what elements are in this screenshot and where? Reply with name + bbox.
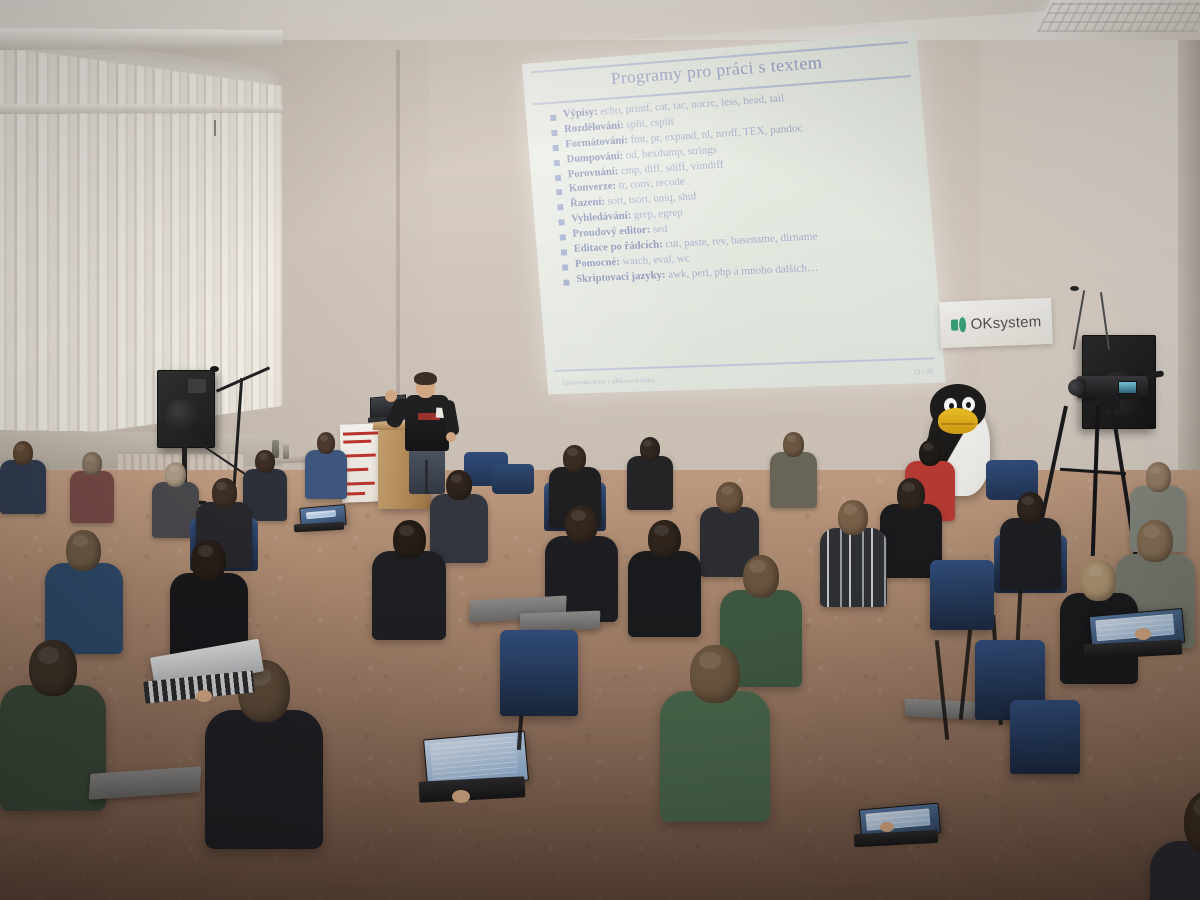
blinds-rail [0, 28, 282, 50]
blinds-rail-lower [0, 104, 282, 114]
chair-writing-tablet-2[interactable] [520, 611, 601, 632]
microphone-icon [210, 366, 219, 372]
hair-highlight [749, 560, 766, 573]
hand-1 [196, 690, 212, 702]
hand-2 [452, 790, 470, 803]
projected-slide: Programy pro práci s textem Výpisy: echo… [522, 32, 946, 394]
empty-chair-2[interactable] [492, 464, 534, 494]
presenter-hand-left [385, 390, 397, 402]
hand-3 [1135, 628, 1151, 640]
audience-laptop-content-2 [430, 736, 519, 779]
wall-corner-right [1178, 40, 1200, 510]
empty-audience-chair-4[interactable] [1010, 700, 1080, 774]
hair-highlight [654, 525, 669, 537]
water-bottle-2[interactable] [283, 444, 289, 459]
tux-pupil-right [966, 402, 971, 408]
audience-member-body [372, 551, 446, 639]
hair-highlight [38, 647, 59, 664]
hair-highlight [399, 525, 414, 537]
audience-member-body [770, 452, 817, 508]
projection-screen: Programy pro práci s textem Výpisy: echo… [522, 32, 946, 394]
hair-highlight [902, 482, 915, 492]
audience-member-body [1150, 841, 1200, 900]
oksystem-logo-icon [950, 317, 966, 333]
camera-lcd-screen [1118, 381, 1137, 394]
empty-audience-chair-3[interactable] [500, 630, 578, 716]
oksystem-sponsor-banner: OKsystem [939, 298, 1053, 348]
oksystem-banner-text: OKsystem [970, 313, 1041, 333]
pa-speaker-left [157, 370, 215, 448]
hair-highlight [571, 510, 586, 522]
audience-member-body [1000, 518, 1061, 590]
audience-member-body [70, 471, 114, 523]
hair-highlight [721, 486, 733, 495]
audience-member-body [205, 710, 323, 850]
hair-highlight [1143, 525, 1159, 538]
tux-beak-icon [938, 408, 978, 434]
empty-audience-chair-1[interactable] [930, 560, 994, 630]
audience-member-body [660, 691, 770, 822]
presenter-hair [414, 372, 437, 385]
audience-member-body [820, 528, 887, 607]
blinds-cord[interactable] [214, 120, 216, 136]
slide-glare [522, 32, 946, 394]
ceiling-light-grille [1037, 2, 1200, 32]
audience-member-body [0, 460, 46, 514]
presenter-leg-gap [425, 460, 428, 494]
chair-writing-tablet-4[interactable] [905, 698, 976, 719]
hair-highlight [86, 455, 95, 462]
hair-highlight [451, 474, 463, 483]
hair-highlight [844, 504, 857, 515]
audience-member-body [628, 551, 701, 637]
hand-4 [880, 822, 894, 832]
audience-member-body [430, 494, 488, 562]
audience-member-body [627, 456, 673, 510]
hair-highlight [923, 443, 933, 451]
hair-highlight [259, 453, 268, 460]
audience-member-body [305, 450, 347, 500]
wall-highlight [980, 40, 1200, 500]
antenna-tip [1070, 286, 1079, 291]
presenter-hand-right [446, 432, 456, 442]
video-camera[interactable] [1076, 376, 1148, 398]
camera-lens-icon [1068, 379, 1086, 396]
tux-beak-line [941, 423, 975, 425]
tripod-head[interactable] [1098, 396, 1120, 410]
lecture-hall-photo: Programy pro práci s textem Výpisy: echo… [0, 0, 1200, 900]
